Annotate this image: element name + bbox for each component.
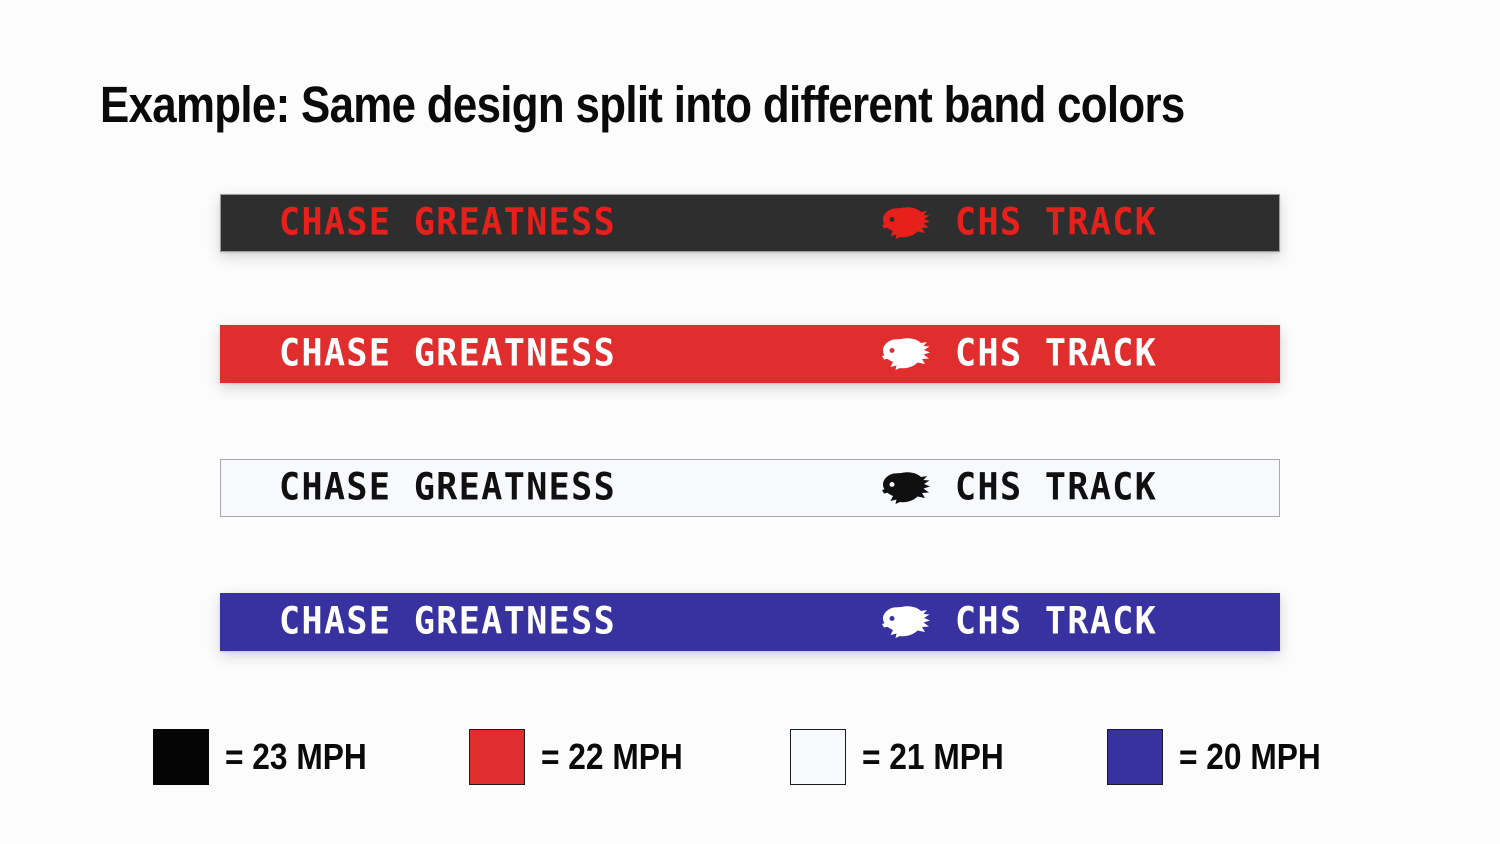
eagle-head-icon (881, 471, 931, 505)
band-right-text: CHS TRACK (955, 602, 1157, 642)
band-blue[interactable]: CHASE GREATNESS CHS TRACK (220, 593, 1280, 651)
band-right-group: CHS TRACK (881, 335, 1157, 373)
band-right-text: CHS TRACK (955, 468, 1157, 508)
legend-item: = 20 MPH (1107, 712, 1340, 802)
legend-label: = 20 MPH (1179, 737, 1321, 777)
band-right-text: CHS TRACK (955, 334, 1157, 374)
legend-item: = 23 MPH (153, 712, 386, 802)
band-red[interactable]: CHASE GREATNESS CHS TRACK (220, 325, 1280, 383)
color-swatch (153, 729, 209, 785)
legend-item: = 22 MPH (469, 712, 702, 802)
band-left-group: CHASE GREATNESS (279, 469, 616, 507)
eagle-head-icon (881, 337, 931, 371)
band-right-group: CHS TRACK (881, 204, 1157, 242)
eagle-head-icon (881, 605, 931, 639)
band-left-text: CHASE GREATNESS (279, 334, 616, 374)
band-left-text: CHASE GREATNESS (279, 602, 616, 642)
band-left-text: CHASE GREATNESS (279, 203, 616, 243)
band-left-group: CHASE GREATNESS (279, 335, 616, 373)
band-left-group: CHASE GREATNESS (279, 204, 616, 242)
color-swatch (790, 729, 846, 785)
eagle-head-icon (881, 206, 931, 240)
color-swatch (1107, 729, 1163, 785)
band-black[interactable]: CHASE GREATNESS CHS TRACK (220, 194, 1280, 252)
color-swatch (469, 729, 525, 785)
band-right-group: CHS TRACK (881, 469, 1157, 507)
legend-label: = 21 MPH (862, 737, 1004, 777)
legend: = 23 MPH = 22 MPH = 21 MPH = 20 MPH (0, 712, 1500, 802)
band-left-text: CHASE GREATNESS (279, 468, 616, 508)
legend-label: = 23 MPH (225, 737, 367, 777)
band-left-group: CHASE GREATNESS (279, 603, 616, 641)
band-list: CHASE GREATNESS CHS TRACK CHASE GREATNES… (0, 0, 1500, 700)
band-white[interactable]: CHASE GREATNESS CHS TRACK (220, 459, 1280, 517)
legend-label: = 22 MPH (541, 737, 683, 777)
band-right-text: CHS TRACK (955, 203, 1157, 243)
band-right-group: CHS TRACK (881, 603, 1157, 641)
legend-item: = 21 MPH (790, 712, 1023, 802)
